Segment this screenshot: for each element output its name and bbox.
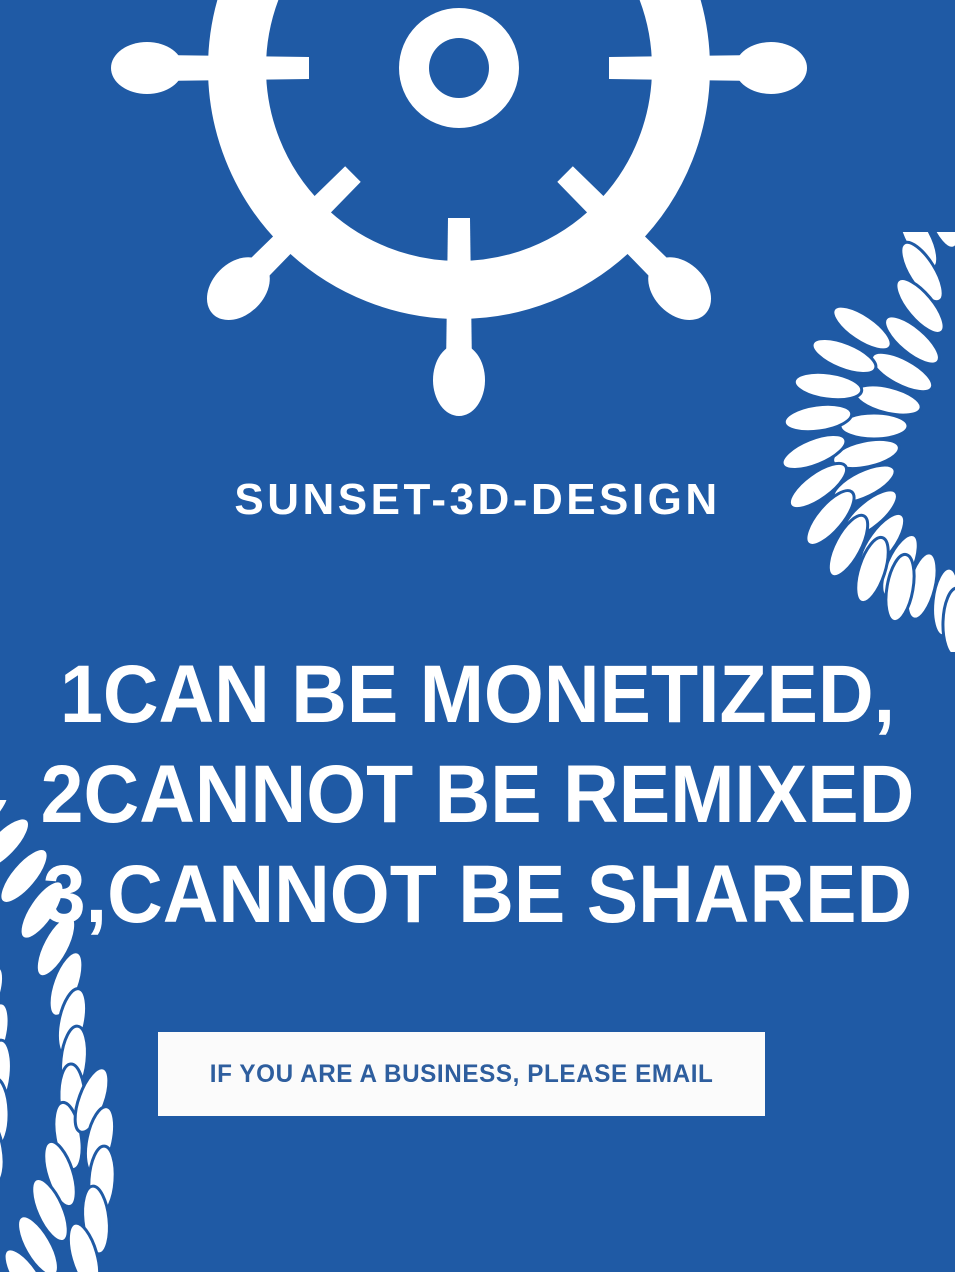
terms-item: 1CAN BE MONETIZED, — [29, 645, 927, 745]
nautical-rope-icon — [770, 232, 955, 652]
terms-item: 3,CANNOT BE SHARED — [29, 845, 927, 945]
poster-canvas: SUNSET-3D-DESIGN 1CAN BE MONETIZED, 2CAN… — [0, 0, 955, 1272]
business-email-button-label: IF YOU ARE A BUSINESS, PLEASE EMAIL — [210, 1060, 714, 1089]
terms-list: 1CAN BE MONETIZED, 2CANNOT BE REMIXED 3,… — [0, 645, 955, 945]
page-title: SUNSET-3D-DESIGN — [0, 478, 955, 522]
business-email-button[interactable]: IF YOU ARE A BUSINESS, PLEASE EMAIL — [158, 1032, 765, 1116]
ships-wheel-icon — [103, 0, 815, 468]
terms-item: 2CANNOT BE REMIXED — [29, 745, 927, 845]
